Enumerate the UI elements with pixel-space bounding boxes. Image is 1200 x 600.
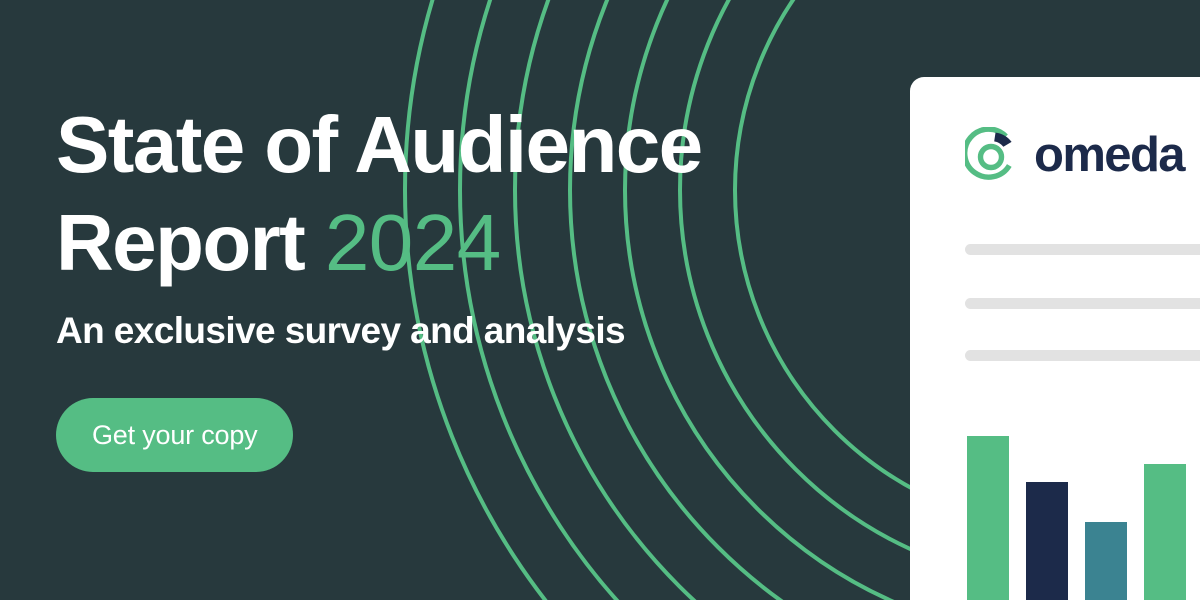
subtitle: An exclusive survey and analysis bbox=[56, 308, 856, 354]
page-title: State of Audience Report 2024 bbox=[56, 96, 856, 292]
report-preview-card: omeda bbox=[910, 77, 1200, 600]
bar-1 bbox=[967, 436, 1009, 600]
omeda-wordmark: omeda bbox=[1034, 131, 1184, 180]
placeholder-text-line bbox=[965, 244, 1200, 255]
placeholder-text-line bbox=[965, 350, 1200, 361]
bar-3 bbox=[1085, 522, 1127, 600]
get-your-copy-button[interactable]: Get your copy bbox=[56, 398, 293, 472]
bar-chart bbox=[910, 400, 1200, 600]
hero-content: State of Audience Report 2024 An exclusi… bbox=[56, 96, 856, 472]
placeholder-text-line bbox=[965, 298, 1200, 309]
omeda-logo: omeda bbox=[965, 127, 1184, 183]
headline-line-2: Report bbox=[56, 198, 325, 287]
omeda-circular-logo-mark bbox=[965, 127, 1021, 183]
bar-2 bbox=[1026, 482, 1068, 600]
state-of-audience-report-banner: State of Audience Report 2024 An exclusi… bbox=[0, 0, 1200, 600]
headline-line-1: State of Audience bbox=[56, 100, 702, 189]
headline-year: 2024 bbox=[325, 198, 501, 287]
bar-4 bbox=[1144, 464, 1186, 600]
